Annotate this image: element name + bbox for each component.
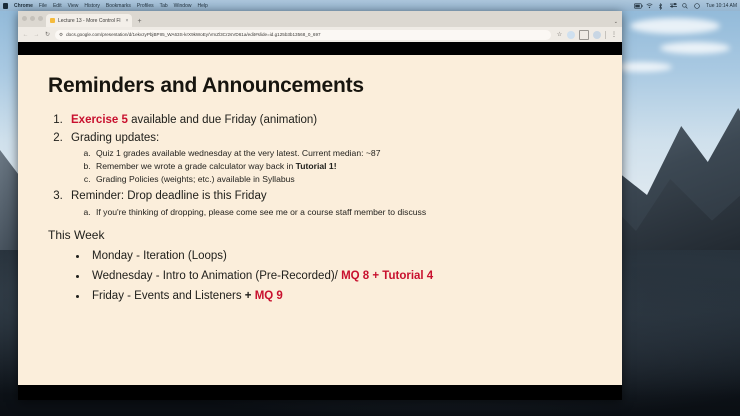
menu-item-edit[interactable]: Edit [53, 3, 62, 9]
list-item-text: Grading updates: [71, 132, 159, 144]
tab-list-icon[interactable]: ⌄ [614, 19, 618, 25]
this-week-heading: This Week [48, 228, 606, 242]
browser-window: Lecture 13 - More Control Fl × + ⌄ ← → ↻… [18, 11, 622, 400]
reading-list-icon[interactable] [579, 30, 589, 40]
sub-list: Quiz 1 grades available wednesday at the… [71, 147, 606, 186]
minimize-button[interactable] [30, 16, 35, 21]
menu-item-tab[interactable]: Tab [160, 3, 168, 9]
address-toolbar: ← → ↻ ⚙ docs.google.com/presentation/d/1… [18, 27, 622, 42]
menu-item-help[interactable]: Help [197, 3, 207, 9]
sub-item-text: If you're thinking of dropping, please c… [96, 207, 426, 217]
list-item: Grading Policies (weights; etc.) availab… [93, 173, 606, 186]
menubar-clock[interactable]: Tue 10:14 AM [706, 3, 737, 9]
list-item-text: Reminder: Drop deadline is this Friday [71, 190, 267, 202]
week-schedule-list: Monday - Iteration (Loops) Wednesday - I… [74, 246, 606, 306]
site-info-icon[interactable]: ⚙ [59, 32, 63, 38]
menu-item-app-name[interactable]: Chrome [14, 3, 33, 9]
menu-icon[interactable]: ⋮ [610, 31, 618, 39]
control-center-icon[interactable] [670, 3, 677, 9]
profile-avatar-icon[interactable] [593, 31, 601, 39]
list-item: Reminder: Drop deadline is this Friday I… [66, 188, 606, 219]
week-item-highlight: MQ 8 + Tutorial 4 [341, 270, 433, 282]
sub-item-text: Grading Policies (weights; etc.) availab… [96, 174, 295, 184]
week-item-text: Monday - Iteration (Loops) [92, 250, 227, 262]
tab-title: Lecture 13 - More Control Fl [58, 18, 121, 24]
menu-item-file[interactable]: File [39, 3, 47, 9]
week-item-text: Wednesday - Intro to Animation (Pre-Reco… [92, 270, 341, 282]
url-text: docs.google.com/presentation/d/1ekvzyPbj… [66, 32, 320, 37]
list-item: Quiz 1 grades available wednesday at the… [93, 147, 606, 160]
list-item: Exercise 5 available and due Friday (ani… [66, 112, 606, 129]
sub-item-text: Remember we wrote a grade calculator way… [96, 161, 296, 171]
apple-icon[interactable] [3, 3, 8, 9]
battery-icon[interactable] [634, 3, 641, 9]
bluetooth-icon[interactable] [658, 3, 665, 9]
list-item: Wednesday - Intro to Animation (Pre-Reco… [88, 266, 606, 286]
toolbar-divider [605, 31, 606, 39]
slides-favicon [50, 18, 55, 23]
close-button[interactable] [22, 16, 27, 21]
bookmark-star-icon[interactable]: ☆ [555, 31, 563, 39]
page-title: Reminders and Announcements [48, 74, 606, 98]
sub-list: If you're thinking of dropping, please c… [71, 206, 606, 219]
tutorial-label: Tutorial 1! [296, 161, 337, 171]
announcement-list: Exercise 5 available and due Friday (ani… [48, 112, 606, 219]
back-button[interactable]: ← [22, 32, 29, 38]
list-item: Grading updates: Quiz 1 grades available… [66, 130, 606, 186]
cloud [630, 18, 720, 34]
tab-strip: Lecture 13 - More Control Fl × + ⌄ [18, 11, 622, 27]
menu-item-bookmarks[interactable]: Bookmarks [106, 3, 131, 9]
forward-button[interactable]: → [33, 32, 40, 38]
menu-item-view[interactable]: View [68, 3, 79, 9]
search-icon[interactable] [682, 3, 689, 9]
slide-canvas: Reminders and Announcements Exercise 5 a… [18, 55, 622, 385]
exercise-label: Exercise 5 [71, 114, 128, 126]
menu-item-profiles[interactable]: Profiles [137, 3, 154, 9]
browser-tab[interactable]: Lecture 13 - More Control Fl × [46, 14, 132, 27]
new-tab-button[interactable]: + [137, 18, 141, 25]
menu-item-history[interactable]: History [84, 3, 100, 9]
window-controls [22, 16, 43, 21]
cloud [660, 42, 730, 54]
siri-icon[interactable] [694, 3, 701, 9]
wifi-icon[interactable] [646, 3, 653, 9]
extension-icon[interactable] [567, 31, 575, 39]
plus-separator: + [245, 290, 255, 302]
os-menu-bar: Chrome File Edit View History Bookmarks … [0, 0, 740, 11]
maximize-button[interactable] [38, 16, 43, 21]
week-item-text: Friday - Events and Listeners [92, 290, 245, 302]
sub-item-text: Quiz 1 grades available wednesday at the… [96, 148, 380, 158]
list-item: Friday - Events and Listeners + MQ 9 [88, 286, 606, 306]
address-bar[interactable]: ⚙ docs.google.com/presentation/d/1ekvzyP… [55, 30, 551, 40]
week-item-highlight: MQ 9 [255, 290, 283, 302]
list-item-text: available and due Friday (animation) [128, 114, 317, 126]
menu-item-window[interactable]: Window [174, 3, 192, 9]
reload-button[interactable]: ↻ [44, 31, 51, 38]
presentation-viewport: Reminders and Announcements Exercise 5 a… [18, 42, 622, 400]
list-item: Remember we wrote a grade calculator way… [93, 160, 606, 173]
list-item: Monday - Iteration (Loops) [88, 246, 606, 266]
close-icon[interactable]: × [126, 18, 129, 24]
list-item: If you're thinking of dropping, please c… [93, 206, 606, 219]
